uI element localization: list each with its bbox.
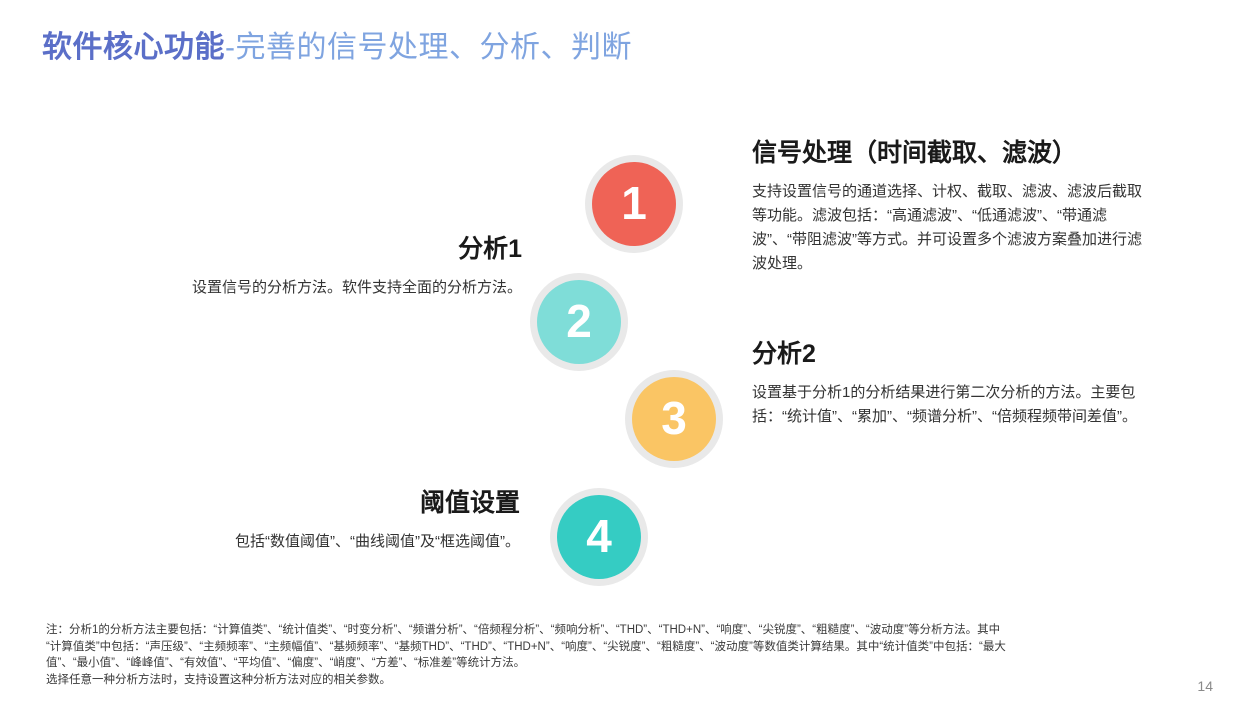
page-title: 软件核心功能-完善的信号处理、分析、判断 (42, 28, 632, 68)
footnote-line-4: 选择任意一种分析方法时，支持设置这种分析方法对应的相关参数。 (46, 672, 1196, 689)
step-marker-2[interactable]: 2 (530, 273, 628, 371)
marker-number: 3 (661, 395, 687, 441)
content-heading: 分析1 (118, 232, 522, 266)
footnote-line-2: “计算值类”中包括：“声压级”、“主频频率”、“主频幅值”、“基频频率”、“基频… (46, 639, 1196, 656)
marker-disc: 2 (537, 280, 621, 364)
content-block-signal-processing: 信号处理（时间截取、滤波） 支持设置信号的通道选择、计权、截取、滤波、滤波后截取… (752, 136, 1154, 276)
content-body: 支持设置信号的通道选择、计权、截取、滤波、滤波后截取等功能。滤波包括：“高通滤波… (752, 180, 1154, 276)
marker-number: 1 (621, 180, 647, 226)
footnote-line-1: 注：分析1的分析方法主要包括：“计算值类”、“统计值类”、“时变分析”、“频谱分… (46, 622, 1196, 639)
page-title-rest: -完善的信号处理、分析、判断 (225, 31, 632, 64)
content-body: 设置基于分析1的分析结果进行第二次分析的方法。主要包括：“统计值”、“累加”、“… (752, 381, 1148, 429)
step-marker-1[interactable]: 1 (585, 155, 683, 253)
content-block-threshold: 阈值设置 包括“数值阈值”、“曲线阈值”及“框选阈值”。 (148, 486, 520, 554)
marker-disc: 3 (632, 377, 716, 461)
content-heading: 阈值设置 (148, 486, 520, 520)
page-number: 14 (1197, 678, 1213, 694)
marker-disc: 4 (557, 495, 641, 579)
content-block-analysis-2: 分析2 设置基于分析1的分析结果进行第二次分析的方法。主要包括：“统计值”、“累… (752, 337, 1148, 429)
content-body: 设置信号的分析方法。软件支持全面的分析方法。 (118, 276, 522, 300)
content-body: 包括“数值阈值”、“曲线阈值”及“框选阈值”。 (148, 530, 520, 554)
content-heading: 信号处理（时间截取、滤波） (752, 136, 1154, 170)
marker-number: 4 (586, 513, 612, 559)
content-block-analysis-1: 分析1 设置信号的分析方法。软件支持全面的分析方法。 (118, 232, 522, 300)
footnote: 注：分析1的分析方法主要包括：“计算值类”、“统计值类”、“时变分析”、“频谱分… (46, 622, 1196, 688)
step-marker-4[interactable]: 4 (550, 488, 648, 586)
footnote-line-3: 值”、“最小值”、“峰峰值”、“有效值”、“平均值”、“偏度”、“峭度”、“方差… (46, 655, 1196, 672)
content-heading: 分析2 (752, 337, 1148, 371)
marker-number: 2 (566, 298, 592, 344)
marker-disc: 1 (592, 162, 676, 246)
step-marker-3[interactable]: 3 (625, 370, 723, 468)
page-title-strong: 软件核心功能 (42, 31, 225, 64)
